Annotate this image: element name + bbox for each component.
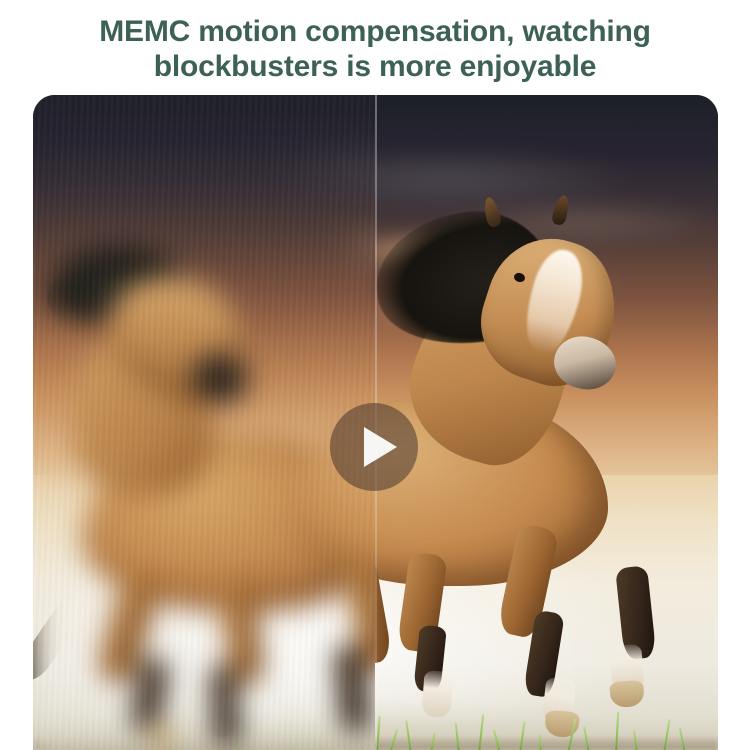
page-title: MEMC motion compensation, watching block… (0, 14, 750, 84)
blurred-scene (33, 95, 375, 750)
page-title-line-2: blockbusters is more enjoyable (0, 49, 750, 84)
photo-blurred-half (33, 95, 375, 750)
video-thumbnail[interactable] (33, 95, 718, 750)
play-triangle-icon (364, 427, 397, 467)
blurred-grass (33, 700, 375, 750)
product-feature-slide: MEMC motion compensation, watching block… (0, 0, 750, 750)
play-button[interactable] (330, 403, 418, 491)
page-title-line-1: MEMC motion compensation, watching (0, 14, 750, 49)
